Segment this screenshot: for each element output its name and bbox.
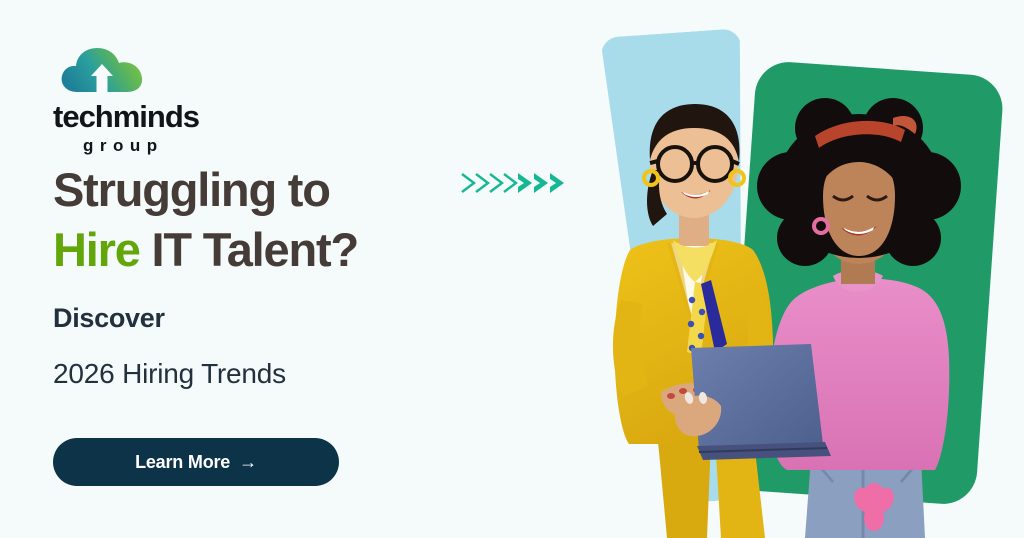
headline-line-2: Hire IT Talent? [53,220,523,280]
subheading-block: Discover 2026 Hiring Trends [53,304,513,389]
page-title: Struggling to Hire IT Talent? [53,160,523,280]
subheading-light: 2026 Hiring Trends [53,359,513,390]
woman-in-pink-sweater [757,98,961,538]
headline-line-1: Struggling to [53,160,523,220]
people-photo [575,0,1024,538]
cloud-upload-arrow-logo-icon [59,46,145,98]
chevron-arrows-decoration [458,166,578,200]
woman-in-yellow-suit [613,104,773,538]
headline-highlight: Hire [53,223,140,276]
headline-rest: IT Talent? [140,223,358,276]
learn-more-button[interactable]: Learn More → [53,438,339,486]
marketing-banner: techminds group Struggling to Hire IT Ta… [0,0,1024,538]
arrow-right-icon: → [239,452,257,473]
brand-logo[interactable]: techminds group [53,46,253,154]
subheading-strong: Discover [53,304,513,334]
content-column: techminds group Struggling to Hire IT Ta… [53,0,573,538]
logo-wordmark: techminds [53,101,253,132]
learn-more-label: Learn More [135,452,230,473]
logo-subtitle: group [53,137,253,154]
